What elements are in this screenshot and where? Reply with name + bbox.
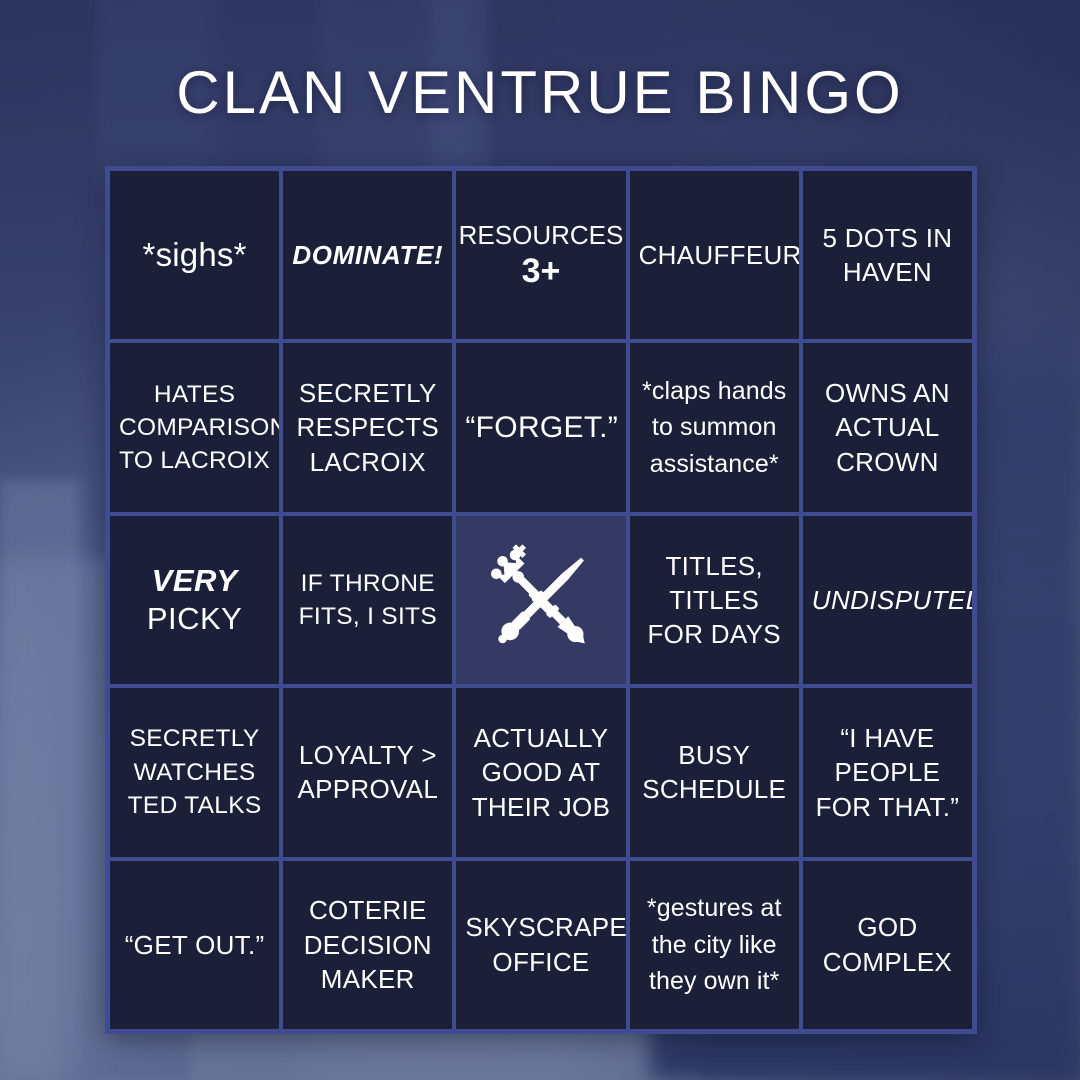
bingo-cell-label: VERY bbox=[152, 563, 238, 599]
bingo-cell-label: “I HAVE PEOPLE FOR THAT.” bbox=[812, 721, 963, 824]
bingo-cell[interactable]: BUSY SCHEDULE bbox=[630, 688, 799, 856]
bingo-cell-value: PICKY bbox=[147, 600, 243, 637]
bingo-cell-label: GOD COMPLEX bbox=[812, 910, 963, 979]
bingo-cell-content: RESOURCES3+ bbox=[465, 220, 616, 291]
bingo-cell-label: LOYALTY > APPROVAL bbox=[292, 738, 443, 807]
bingo-cell-label: *sighs* bbox=[119, 233, 270, 277]
bingo-cell-label: BUSY SCHEDULE bbox=[639, 738, 790, 807]
bingo-cell[interactable]: SECRETLY RESPECTS LACROIX bbox=[283, 343, 452, 511]
bingo-grid: *sighs*DOMINATE!RESOURCES3+CHAUFFEUR5 DO… bbox=[105, 166, 977, 1034]
bingo-cell[interactable]: CHAUFFEUR bbox=[630, 171, 799, 339]
bingo-cell[interactable]: LOYALTY > APPROVAL bbox=[283, 688, 452, 856]
bingo-cell-label: SKYSCRAPER OFFICE bbox=[465, 910, 616, 979]
bingo-cell-label: 5 DOTS IN HAVEN bbox=[812, 221, 963, 290]
bingo-cell-label: HATES COMPARISONS TO LACROIX bbox=[119, 378, 270, 478]
bingo-cell-label: SECRETLY RESPECTS LACROIX bbox=[292, 376, 443, 479]
ventrue-clan-symbol-icon bbox=[478, 537, 605, 663]
bingo-cell-content: VERYPICKY bbox=[119, 563, 270, 637]
bingo-cell-label: TITLES, TITLES FOR DAYS bbox=[639, 549, 790, 652]
bingo-cell[interactable]: ACTUALLY GOOD AT THEIR JOB bbox=[456, 688, 625, 856]
bingo-cell[interactable]: VERYPICKY bbox=[110, 516, 279, 684]
bingo-cell[interactable]: 5 DOTS IN HAVEN bbox=[803, 171, 972, 339]
page-title: CLAN VENTRUE BINGO bbox=[0, 58, 1080, 127]
bingo-cell-label: OWNS AN ACTUAL CROWN bbox=[812, 376, 963, 479]
bingo-cell[interactable]: “GET OUT.” bbox=[110, 861, 279, 1029]
bingo-cell-value: 3+ bbox=[522, 252, 561, 291]
bingo-cell[interactable]: “I HAVE PEOPLE FOR THAT.” bbox=[803, 688, 972, 856]
bingo-cell[interactable]: “FORGET.” bbox=[456, 343, 625, 511]
bingo-cell[interactable]: SKYSCRAPER OFFICE bbox=[456, 861, 625, 1029]
bingo-cell-label: “FORGET.” bbox=[465, 408, 616, 448]
bingo-cell-label: “GET OUT.” bbox=[119, 928, 270, 962]
bingo-cell-label: DOMINATE! bbox=[292, 238, 443, 272]
bingo-cell[interactable]: GOD COMPLEX bbox=[803, 861, 972, 1029]
bingo-cell-label: RESOURCES bbox=[459, 220, 624, 251]
bingo-cell[interactable]: HATES COMPARISONS TO LACROIX bbox=[110, 343, 279, 511]
bingo-cell[interactable]: *claps hands to summon assistance* bbox=[630, 343, 799, 511]
bingo-cell[interactable]: TITLES, TITLES FOR DAYS bbox=[630, 516, 799, 684]
bingo-cell-label: CHAUFFEUR bbox=[639, 238, 790, 272]
bingo-cell-label: UNDISPUTED bbox=[812, 583, 963, 617]
bingo-cell-label: ACTUALLY GOOD AT THEIR JOB bbox=[465, 721, 616, 824]
bingo-cell[interactable]: DOMINATE! bbox=[283, 171, 452, 339]
bingo-free-cell[interactable] bbox=[456, 516, 625, 684]
bingo-cell[interactable]: RESOURCES3+ bbox=[456, 171, 625, 339]
bingo-cell-label: *gestures at the city like they own it* bbox=[639, 890, 790, 999]
bingo-cell[interactable]: UNDISPUTED bbox=[803, 516, 972, 684]
bingo-cell[interactable]: *gestures at the city like they own it* bbox=[630, 861, 799, 1029]
bingo-cell[interactable]: COTERIE DECISION MAKER bbox=[283, 861, 452, 1029]
bingo-cell[interactable]: IF THRONE FITS, I SITS bbox=[283, 516, 452, 684]
bingo-cell-label: COTERIE DECISION MAKER bbox=[292, 893, 443, 996]
bingo-cell[interactable]: *sighs* bbox=[110, 171, 279, 339]
bingo-cell-label: IF THRONE FITS, I SITS bbox=[292, 567, 443, 634]
bingo-cell[interactable]: SECRETLY WATCHES TED TALKS bbox=[110, 688, 279, 856]
bingo-cell-label: *claps hands to summon assistance* bbox=[639, 373, 790, 482]
bingo-cell[interactable]: OWNS AN ACTUAL CROWN bbox=[803, 343, 972, 511]
bingo-cell-label: SECRETLY WATCHES TED TALKS bbox=[119, 722, 270, 822]
